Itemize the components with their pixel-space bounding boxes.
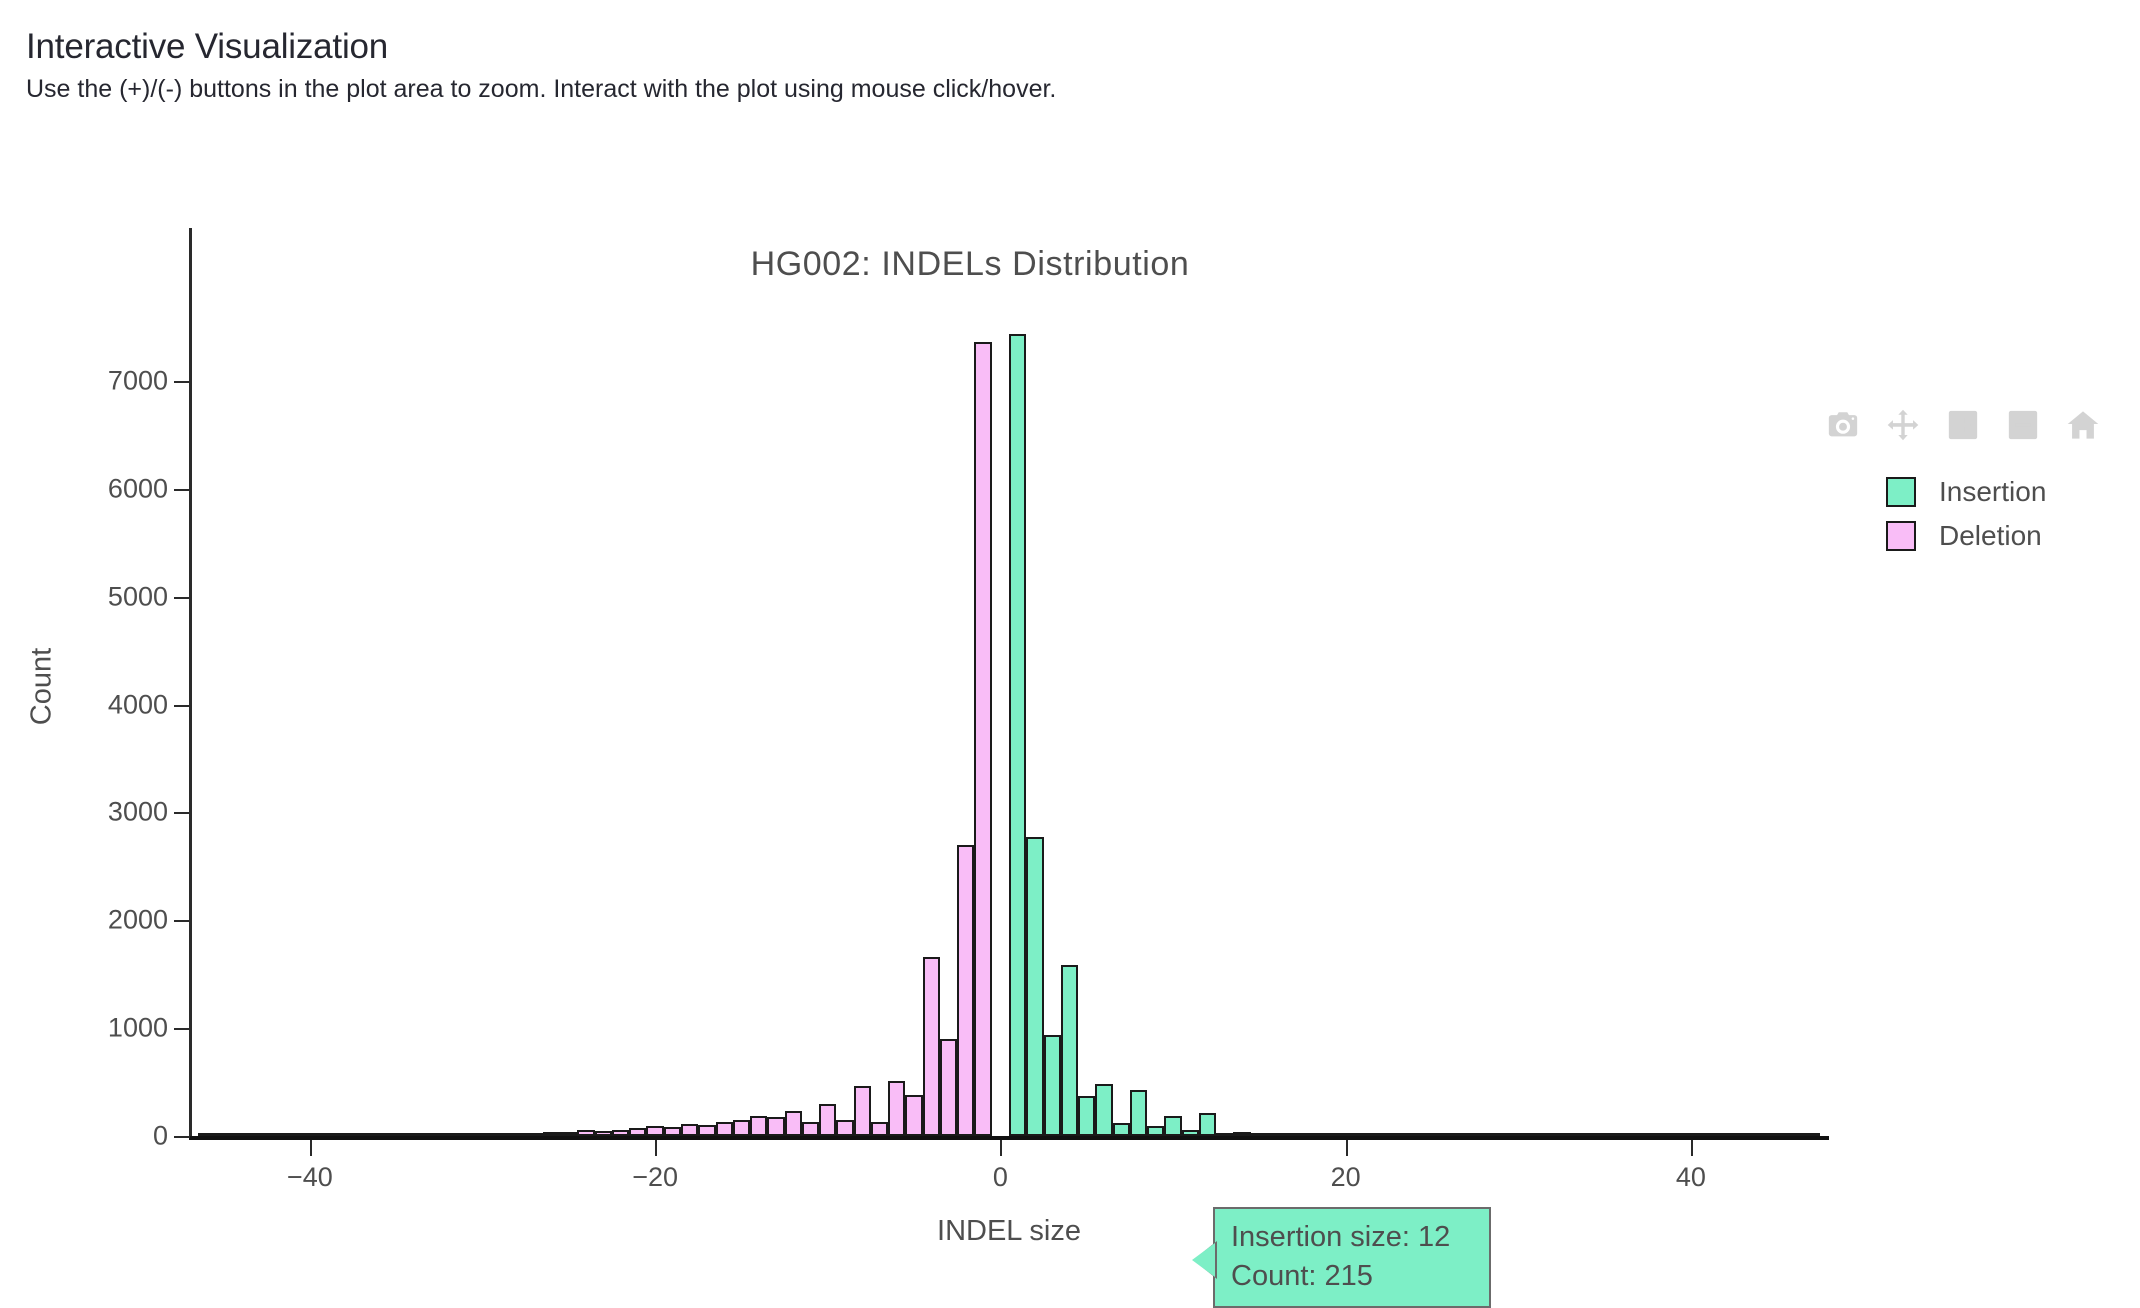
bar-deletion--6[interactable] (888, 1081, 905, 1136)
bar-deletion--15[interactable] (733, 1120, 750, 1136)
bar-deletion--20[interactable] (646, 1126, 663, 1136)
y-tick-label: 7000 (0, 366, 168, 397)
y-tick-mark (174, 597, 190, 599)
bar-insertion-12[interactable] (1199, 1113, 1216, 1136)
x-tick-label: −20 (632, 1162, 678, 1193)
x-tick-mark (1000, 1140, 1002, 1156)
x-tick-mark (1691, 1140, 1693, 1156)
bar-insertion-1[interactable] (1009, 334, 1026, 1136)
x-tick-label: 0 (993, 1162, 1008, 1193)
x-tick-mark (310, 1140, 312, 1156)
bar-deletion--8[interactable] (854, 1086, 871, 1136)
bar-deletion--13[interactable] (767, 1117, 784, 1136)
bar-deletion--19[interactable] (664, 1127, 681, 1136)
tooltip-line-count: Count: 215 (1231, 1257, 1473, 1296)
y-tick-mark (174, 1028, 190, 1030)
x-tick-label: 20 (1331, 1162, 1361, 1193)
bar-insertion-2[interactable] (1026, 837, 1043, 1136)
bars-layer[interactable] (0, 150, 2140, 1260)
tooltip-line-size: Insertion size: 12 (1231, 1218, 1473, 1257)
plot-axes-area[interactable]: 01000200030004000500060007000 −40−200204… (0, 150, 2140, 1260)
plot-container[interactable]: HG002: INDELs Distribution (0, 150, 2140, 1260)
bar-insertion-10[interactable] (1164, 1116, 1181, 1136)
bar-deletion--10[interactable] (819, 1104, 836, 1136)
bar-deletion--4[interactable] (923, 957, 940, 1136)
x-axis-title: INDEL size (189, 1215, 1829, 1248)
bar-deletion--2[interactable] (957, 845, 974, 1136)
y-tick-label: 1000 (0, 1013, 168, 1044)
x-tick-mark (1346, 1140, 1348, 1156)
bar-insertion-5[interactable] (1078, 1096, 1095, 1136)
y-tick-mark (174, 812, 190, 814)
y-tick-mark (174, 381, 190, 383)
page-subtitle: Use the (+)/(-) buttons in the plot area… (26, 72, 1056, 107)
y-axis-title: Count (26, 587, 59, 787)
bar-insertion-8[interactable] (1130, 1090, 1147, 1136)
bar-insertion-11[interactable] (1182, 1130, 1199, 1136)
x-tick-mark (655, 1140, 657, 1156)
bar-deletion--17[interactable] (698, 1125, 715, 1136)
bar-deletion--18[interactable] (681, 1124, 698, 1136)
bar-deletion--3[interactable] (940, 1039, 957, 1136)
page-title: Interactive Visualization (26, 26, 2026, 68)
y-tick-label: 3000 (0, 797, 168, 828)
page-header: Interactive Visualization Use the (+)/(-… (26, 26, 2026, 68)
y-tick-mark (174, 920, 190, 922)
y-tick-label: 2000 (0, 905, 168, 936)
bar-deletion--22[interactable] (612, 1130, 629, 1136)
bar-deletion--21[interactable] (629, 1128, 646, 1136)
x-tick-label: −40 (287, 1162, 333, 1193)
bar-deletion--11[interactable] (802, 1122, 819, 1136)
y-tick-mark (174, 489, 190, 491)
y-tick-mark (174, 1136, 190, 1138)
bar-insertion-9[interactable] (1147, 1126, 1164, 1136)
hover-tooltip: Insertion size: 12 Count: 215 (1213, 1207, 1491, 1308)
y-tick-mark (174, 705, 190, 707)
bar-deletion--16[interactable] (716, 1122, 733, 1136)
bar-deletion--1[interactable] (974, 342, 991, 1136)
bar-deletion--12[interactable] (785, 1111, 802, 1136)
bar-deletion--5[interactable] (905, 1095, 922, 1136)
x-axis-line (189, 1136, 1829, 1140)
bar-deletion--9[interactable] (836, 1120, 853, 1136)
bar-insertion-7[interactable] (1113, 1123, 1130, 1136)
bar-insertion-4[interactable] (1061, 965, 1078, 1136)
bar-insertion-6[interactable] (1095, 1084, 1112, 1136)
bar-deletion--14[interactable] (750, 1116, 767, 1136)
bar-deletion--7[interactable] (871, 1122, 888, 1136)
y-tick-label: 6000 (0, 473, 168, 504)
tooltip-arrow (1192, 1243, 1215, 1277)
y-tick-label: 0 (0, 1121, 168, 1152)
y-axis-line (189, 228, 192, 1140)
bar-insertion-3[interactable] (1044, 1035, 1061, 1136)
x-tick-label: 40 (1676, 1162, 1706, 1193)
